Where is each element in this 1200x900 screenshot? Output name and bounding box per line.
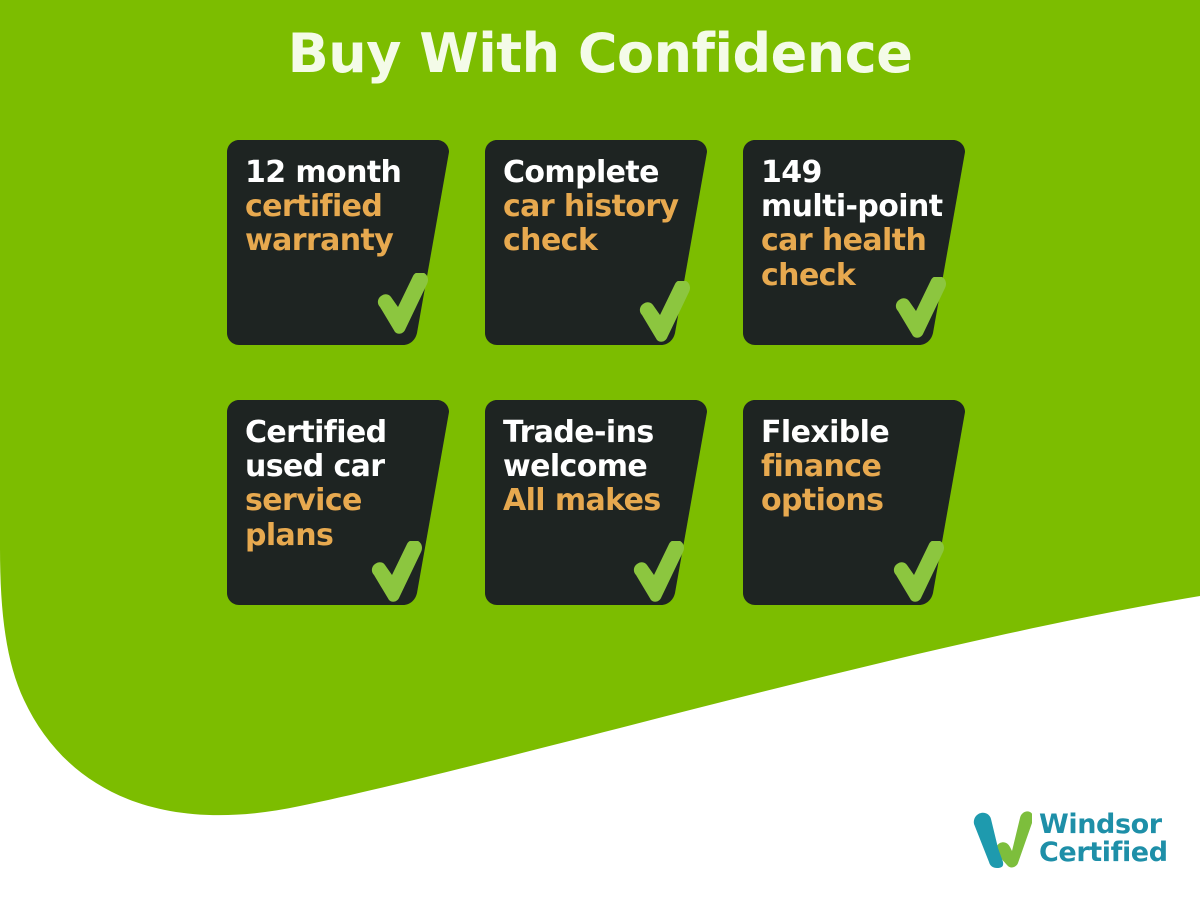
logo-line-windsor: Windsor	[1039, 811, 1168, 839]
card-line: welcome	[503, 450, 677, 484]
card-line: All makes	[503, 484, 677, 518]
card-line: Certified	[245, 416, 419, 450]
page-title: Buy With Confidence	[0, 22, 1200, 85]
check-icon	[373, 273, 429, 335]
card-text: Flexible finance options	[761, 416, 935, 519]
logo-line-certified: Certified	[1039, 839, 1168, 867]
buy-with-confidence-banner: Buy With Confidence 12 month certified w…	[0, 0, 1200, 900]
card-line: warranty	[245, 224, 419, 258]
card-text: 12 month certified warranty	[245, 156, 419, 259]
card-line: Flexible	[761, 416, 935, 450]
card-line: used car	[245, 450, 419, 484]
feature-card[interactable]: Certified used car service plans	[227, 400, 449, 605]
windsor-w-icon	[972, 810, 1032, 868]
logo-wordmark: Windsor Certified	[1039, 811, 1168, 866]
feature-card[interactable]: Trade-ins welcome All makes	[485, 400, 707, 605]
check-icon	[367, 541, 423, 603]
check-icon	[891, 277, 947, 339]
card-line: Trade-ins	[503, 416, 677, 450]
card-line: check	[503, 224, 677, 258]
card-line: 12 month	[245, 156, 419, 190]
feature-card[interactable]: 12 month certified warranty	[227, 140, 449, 345]
feature-card[interactable]: Complete car history check	[485, 140, 707, 345]
card-line: car health	[761, 224, 935, 258]
card-line: finance	[761, 450, 935, 484]
card-line: options	[761, 484, 935, 518]
card-line: multi-point	[761, 190, 935, 224]
check-icon	[635, 281, 691, 343]
card-line: certified	[245, 190, 419, 224]
card-line: Complete	[503, 156, 677, 190]
card-line: car history	[503, 190, 677, 224]
card-text: Certified used car service plans	[245, 416, 419, 553]
check-icon	[889, 541, 945, 603]
check-icon	[629, 541, 685, 603]
card-text: Complete car history check	[503, 156, 677, 259]
feature-card[interactable]: 149 multi-point car health check	[743, 140, 965, 345]
card-text: Trade-ins welcome All makes	[503, 416, 677, 519]
feature-card[interactable]: Flexible finance options	[743, 400, 965, 605]
card-text: 149 multi-point car health check	[761, 156, 935, 293]
card-line: service	[245, 484, 419, 518]
card-line: 149	[761, 156, 935, 190]
windsor-certified-logo[interactable]: Windsor Certified	[972, 806, 1162, 872]
feature-card-grid: 12 month certified warranty Complete car…	[227, 140, 987, 605]
